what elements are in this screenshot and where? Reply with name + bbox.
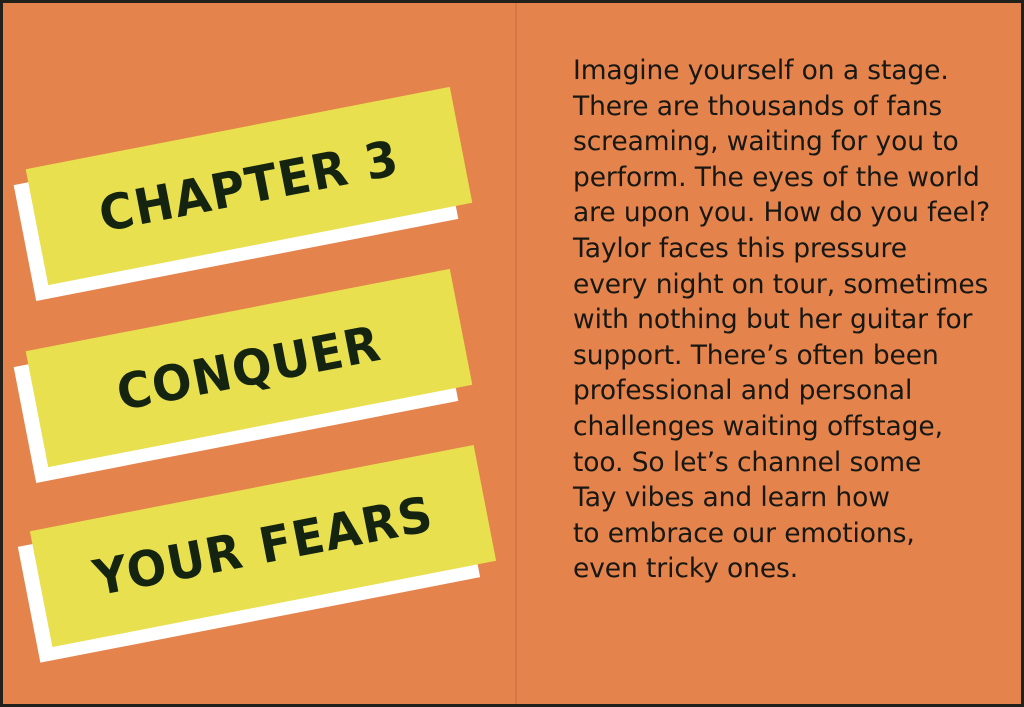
banner-label-conquer: CONQUER (112, 314, 386, 421)
right-page: Imagine yourself on a stage. There are t… (515, 3, 1024, 707)
book-spread-page: CHAPTER 3 CONQUER YOUR FEARS Imagine you… (0, 0, 1024, 707)
chapter-banner: YOUR FEARS (3, 473, 503, 623)
left-page: CHAPTER 3 CONQUER YOUR FEARS (3, 3, 515, 707)
chapter-intro-paragraph: Imagine yourself on a stage. There are t… (573, 53, 1003, 587)
chapter-banner: CONQUER (3, 295, 463, 445)
chapter-banner: CHAPTER 3 (3, 113, 483, 263)
